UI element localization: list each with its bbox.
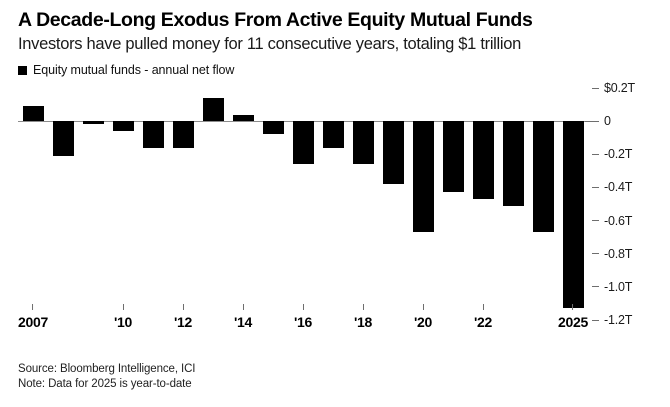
page-subtitle: Investors have pulled money for 11 conse…	[18, 34, 521, 54]
bar-2025	[563, 121, 584, 308]
bar-2008	[53, 121, 74, 156]
square-swatch-icon	[18, 66, 27, 75]
x-tick-2018: '18	[354, 304, 372, 330]
bar-2009	[83, 121, 104, 124]
bar-2007	[23, 106, 44, 121]
x-axis: 2007'10'12'14'16'18'20'222025	[18, 304, 588, 344]
y-tick: -1.2T	[592, 313, 632, 327]
y-tick-mark	[592, 187, 599, 188]
y-axis: $0.2T0-0.2T-0.4T-0.6T-0.8T-1.0T-1.2T	[592, 88, 670, 328]
y-tick-label: 0	[604, 114, 611, 128]
x-tick-label: '14	[234, 314, 252, 330]
y-tick: -0.2T	[592, 147, 632, 161]
x-tick-2007: 2007	[18, 304, 48, 330]
bar-2019	[383, 121, 404, 184]
x-tick-2014: '14	[234, 304, 252, 330]
x-tick-mark	[572, 304, 573, 310]
bar-2023	[503, 121, 524, 206]
y-tick-mark	[592, 253, 599, 254]
bar-2012	[173, 121, 194, 148]
page-title: A Decade-Long Exodus From Active Equity …	[18, 8, 532, 32]
bar-2022	[473, 121, 494, 199]
x-tick-label: '18	[354, 314, 372, 330]
plot-area	[18, 88, 588, 320]
y-tick-mark	[585, 121, 599, 122]
y-tick-mark	[592, 220, 599, 221]
chart-footer: Source: Bloomberg Intelligence, ICI Note…	[18, 362, 618, 392]
x-tick-mark	[32, 304, 33, 310]
source-line: Source: Bloomberg Intelligence, ICI	[18, 362, 618, 377]
x-tick-mark	[122, 304, 123, 310]
bar-2014	[233, 115, 254, 122]
bar-2020	[413, 121, 434, 232]
y-tick: -0.6T	[592, 214, 632, 228]
y-tick-mark	[592, 88, 599, 89]
x-tick-2010: '10	[114, 304, 132, 330]
chart-legend: Equity mutual funds - annual net flow	[18, 63, 234, 77]
x-tick-label: '12	[174, 314, 192, 330]
legend-item-label: Equity mutual funds - annual net flow	[33, 63, 234, 77]
y-tick-mark	[592, 286, 599, 287]
y-tick: $0.2T	[592, 81, 635, 95]
x-tick-2022: '22	[474, 304, 492, 330]
x-tick-mark	[482, 304, 483, 310]
x-tick-mark	[422, 304, 423, 310]
x-tick-label: '16	[294, 314, 312, 330]
y-tick-label: -0.6T	[604, 214, 632, 228]
bar-2018	[353, 121, 374, 164]
x-tick-mark	[242, 304, 243, 310]
bar-2024	[533, 121, 554, 232]
bar-2021	[443, 121, 464, 192]
bar-2010	[113, 121, 134, 131]
x-tick-2020: '20	[414, 304, 432, 330]
y-tick-label: -0.4T	[604, 180, 632, 194]
x-tick-label: '20	[414, 314, 432, 330]
bar-2015	[263, 121, 284, 134]
x-tick-label: 2007	[18, 314, 48, 330]
note-line: Note: Data for 2025 is year-to-date	[18, 377, 618, 392]
y-tick: 0	[592, 114, 611, 128]
x-tick-mark	[302, 304, 303, 310]
y-tick-mark	[592, 154, 599, 155]
y-tick-mark	[592, 320, 599, 321]
chart-page: A Decade-Long Exodus From Active Equity …	[0, 0, 670, 407]
bar-2016	[293, 121, 314, 164]
x-tick-2025: 2025	[558, 304, 588, 330]
bar-2011	[143, 121, 164, 148]
bars-layer	[18, 88, 588, 320]
y-tick-label: -1.0T	[604, 280, 632, 294]
x-tick-label: 2025	[558, 314, 588, 330]
y-tick-label: $0.2T	[604, 81, 635, 95]
x-tick-label: '22	[474, 314, 492, 330]
y-tick-label: -1.2T	[604, 313, 632, 327]
bar-2013	[203, 98, 224, 121]
x-tick-2012: '12	[174, 304, 192, 330]
x-tick-2016: '16	[294, 304, 312, 330]
y-tick: -0.8T	[592, 247, 632, 261]
y-tick-label: -0.2T	[604, 147, 632, 161]
x-tick-mark	[182, 304, 183, 310]
y-tick-label: -0.8T	[604, 247, 632, 261]
y-tick: -0.4T	[592, 180, 632, 194]
y-tick: -1.0T	[592, 280, 632, 294]
bar-2017	[323, 121, 344, 148]
x-tick-label: '10	[114, 314, 132, 330]
x-tick-mark	[362, 304, 363, 310]
